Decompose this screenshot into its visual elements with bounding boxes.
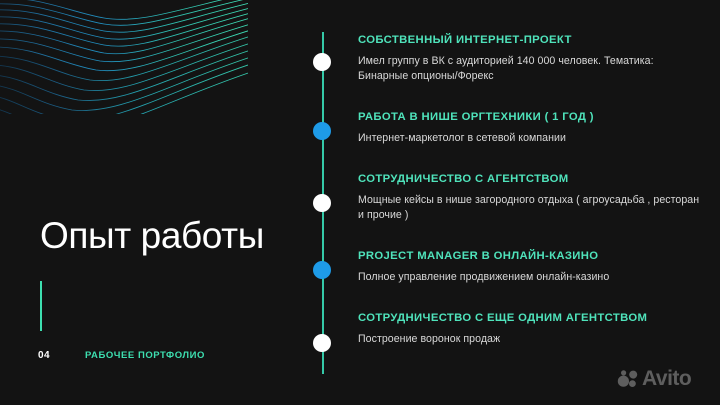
experience-entry-description: Интернет-маркетолог в сетевой компании	[358, 131, 706, 146]
experience-entry: СОТРУДНИЧЕСТВО С ЕЩЕ ОДНИМ АГЕНТСТВОМПос…	[358, 311, 706, 347]
experience-entry-description: Мощные кейсы в нише загородного отдыха (…	[358, 193, 706, 223]
experience-entry-title: СОТРУДНИЧЕСТВО С АГЕНТСТВОМ	[358, 172, 706, 186]
section-label: РАБОЧЕЕ ПОРТФОЛИО	[85, 350, 205, 361]
experience-entry-title: СОТРУДНИЧЕСТВО С ЕЩЕ ОДНИМ АГЕНТСТВОМ	[358, 311, 706, 325]
accent-bar-decoration	[40, 281, 42, 331]
experience-entry-title: СОБСТВЕННЫЙ ИНТЕРНЕТ-ПРОЕКТ	[358, 33, 706, 47]
timeline-dot-2	[313, 122, 331, 140]
experience-entry-description: Построение воронок продаж	[358, 332, 706, 347]
experience-entry: РАБОТА В НИШЕ ОРГТЕХНИКИ ( 1 ГОД )Интерн…	[358, 110, 706, 146]
timeline-dot-1	[313, 53, 331, 71]
experience-entry-title: РАБОТА В НИШЕ ОРГТЕХНИКИ ( 1 ГОД )	[358, 110, 706, 124]
timeline-dot-3	[313, 194, 331, 212]
experience-entry: СОТРУДНИЧЕСТВО С АГЕНТСТВОММощные кейсы …	[358, 172, 706, 224]
avito-watermark: Avito	[617, 368, 691, 389]
flowing-wave-lines-decoration	[0, 0, 248, 114]
timeline-dot-4	[313, 261, 331, 279]
avito-watermark-text: Avito	[642, 368, 691, 389]
experience-entry-description: Полное управление продвижением онлайн-ка…	[358, 270, 706, 285]
avito-logo-dots-icon	[617, 370, 638, 388]
experience-entry-description: Имел группу в ВК с аудиторией 140 000 че…	[358, 54, 706, 84]
page-title: Опыт работы	[40, 215, 264, 257]
experience-entry: PROJECT MANAGER В ОНЛАЙН-КАЗИНОПолное уп…	[358, 249, 706, 285]
experience-entry-title: PROJECT MANAGER В ОНЛАЙН-КАЗИНО	[358, 249, 706, 263]
experience-entry: СОБСТВЕННЫЙ ИНТЕРНЕТ-ПРОЕКТИмел группу в…	[358, 33, 706, 85]
timeline-dot-5	[313, 334, 331, 352]
page-number: 04	[38, 350, 50, 361]
experience-entry-list: СОБСТВЕННЫЙ ИНТЕРНЕТ-ПРОЕКТИмел группу в…	[358, 0, 706, 405]
presentation-slide: Опыт работы 04 РАБОЧЕЕ ПОРТФОЛИО СОБСТВЕ…	[0, 0, 720, 405]
